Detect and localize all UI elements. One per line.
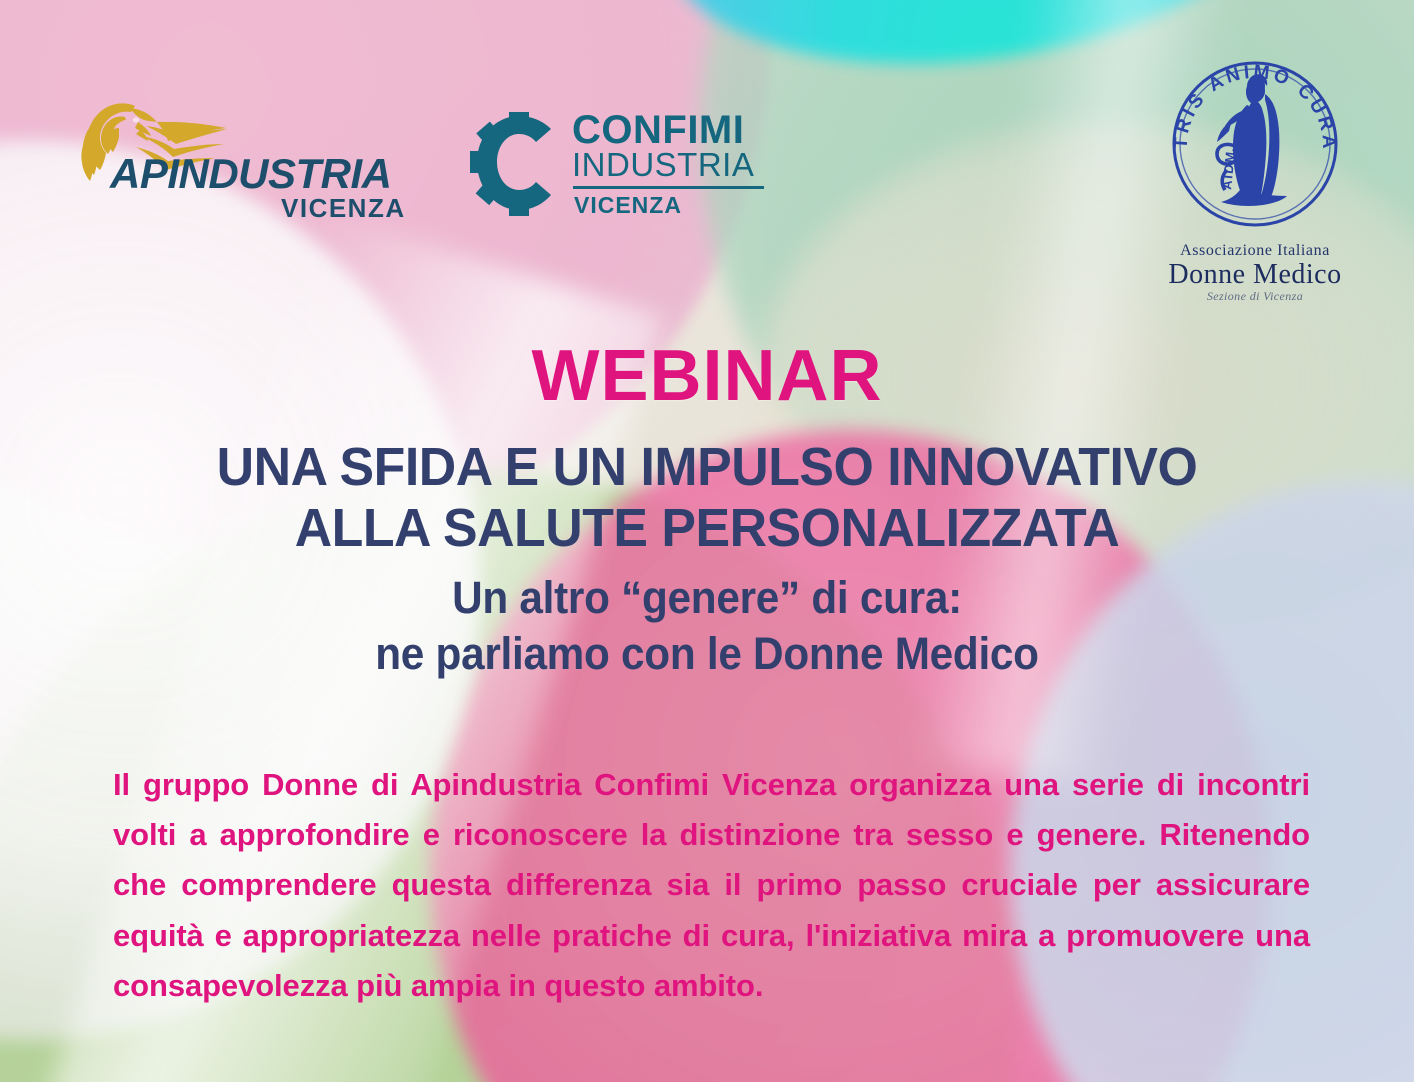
webinar-poster: APINDUSTRIA VICENZA CONFIMI INDUSTRIA VI… [0,0,1414,1082]
title-line-2: ALLA SALUTE PERSONALIZZATA [28,498,1385,558]
description-paragraph: Il gruppo Donne di Apindustria Confimi V… [113,760,1310,1011]
confimi-divider [573,186,764,189]
logo-confimi-industria: CONFIMI INDUSTRIA VICENZA [470,108,780,224]
apindustria-city: VICENZA [281,193,406,224]
subtitle-line-1: Un altro “genere” di cura: [42,570,1371,626]
title-line-1: UNA SFIDA E UN IMPULSO INNOVATIVO [28,437,1385,497]
confimi-industria-label: INDUSTRIA [572,146,754,184]
svg-text:AIDM: AIDM [1219,150,1238,191]
logo-donne-medico: MATRIS ANIMO CURANT [1145,50,1365,308]
confimi-city: VICENZA [574,192,682,219]
donne-medico-wordmark: Donne Medico [1145,260,1365,289]
donne-medico-association-label: Associazione Italiana [1145,242,1365,260]
logo-apindustria: APINDUSTRIA VICENZA [78,100,408,228]
headline-block: WEBINAR UNA SFIDA E UN IMPULSO INNOVATIV… [0,340,1414,682]
apindustria-wordmark: APINDUSTRIA [110,150,392,198]
gear-c-icon [470,112,562,216]
webinar-kicker: WEBINAR [0,340,1414,413]
donne-medico-seal-icon: MATRIS ANIMO CURANT [1161,50,1349,238]
subtitle-line-2: ne parliamo con le Donne Medico [42,626,1371,682]
donne-medico-section: Sezione di Vicenza [1145,289,1365,304]
